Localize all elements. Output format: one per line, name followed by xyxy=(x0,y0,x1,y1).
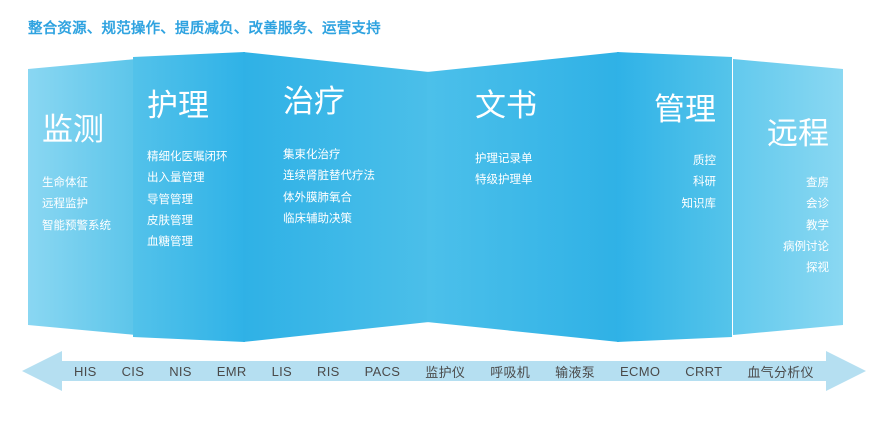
panel-management-items: 质控 科研 知识库 xyxy=(682,153,717,212)
list-item: 导管管理 xyxy=(147,192,228,208)
panel-treatment[interactable]: 治疗 集束化治疗 连续肾脏替代疗法 体外膜肺氧合 临床辅助决策 xyxy=(243,52,429,342)
list-item: 智能预警系统 xyxy=(42,218,111,234)
system-label: NIS xyxy=(169,364,192,379)
panel-documents[interactable]: 文书 护理记录单 特级护理单 xyxy=(427,52,619,342)
page-title: 整合资源、规范操作、提质减负、改善服务、运营支持 xyxy=(28,17,381,38)
system-label: 血气分析仪 xyxy=(747,362,814,381)
panel-management[interactable]: 管理 质控 科研 知识库 xyxy=(617,52,732,342)
system-label: 输液泵 xyxy=(555,362,595,381)
list-item: 体外膜肺氧合 xyxy=(283,190,375,206)
system-label: HIS xyxy=(74,364,97,379)
list-item: 集束化治疗 xyxy=(283,147,375,163)
system-label: RIS xyxy=(317,364,340,379)
panel-remote-title: 远程 xyxy=(767,118,829,149)
list-item: 临床辅助决策 xyxy=(283,211,375,227)
list-item: 病例讨论 xyxy=(783,239,829,255)
system-label: PACS xyxy=(365,364,401,379)
systems-label-row: HIS CIS NIS EMR LIS RIS PACS 监护仪 呼吸机 输液泵… xyxy=(68,349,820,393)
system-label: 呼吸机 xyxy=(490,362,530,381)
panel-monitoring-items: 生命体征 远程监护 智能预警系统 xyxy=(42,175,111,234)
system-label: CRRT xyxy=(685,364,722,379)
panel-nursing-items: 精细化医嘱闭环 出入量管理 导管管理 皮肤管理 血糖管理 xyxy=(147,149,228,251)
system-label: 监护仪 xyxy=(425,362,465,381)
panel-treatment-title: 治疗 xyxy=(283,86,345,117)
list-item: 生命体征 xyxy=(42,175,111,191)
system-label: ECMO xyxy=(620,364,660,379)
panel-treatment-items: 集束化治疗 连续肾脏替代疗法 体外膜肺氧合 临床辅助决策 xyxy=(283,147,375,227)
system-label: LIS xyxy=(272,364,292,379)
list-item: 血糖管理 xyxy=(147,234,228,250)
list-item: 特级护理单 xyxy=(475,172,533,188)
panel-remote-items: 查房 会诊 教学 病例讨论 探视 xyxy=(783,175,829,277)
list-item: 会诊 xyxy=(783,196,829,212)
list-item: 连续肾脏替代疗法 xyxy=(283,168,375,184)
panel-monitoring-title: 监测 xyxy=(42,114,104,145)
panel-nursing-title: 护理 xyxy=(147,90,209,121)
system-label: CIS xyxy=(122,364,145,379)
list-item: 出入量管理 xyxy=(147,170,228,186)
system-label: EMR xyxy=(217,364,247,379)
list-item: 精细化医嘱闭环 xyxy=(147,149,228,165)
list-item: 护理记录单 xyxy=(475,151,533,167)
panel-management-title: 管理 xyxy=(654,94,716,125)
list-item: 教学 xyxy=(783,218,829,234)
list-item: 远程监护 xyxy=(42,196,111,212)
list-item: 皮肤管理 xyxy=(147,213,228,229)
panel-documents-title: 文书 xyxy=(475,90,537,121)
list-item: 查房 xyxy=(783,175,829,191)
panel-remote[interactable]: 远程 查房 会诊 教学 病例讨论 探视 xyxy=(733,52,843,342)
accordion-diagram: 监测 生命体征 远程监护 智能预警系统 护理 精细化医嘱闭环 出入量管理 xyxy=(0,52,888,342)
list-item: 质控 xyxy=(682,153,717,169)
panel-monitoring[interactable]: 监测 生命体征 远程监护 智能预警系统 xyxy=(28,52,136,342)
list-item: 科研 xyxy=(682,174,717,190)
list-item: 知识库 xyxy=(682,196,717,212)
systems-arrow-bar: HIS CIS NIS EMR LIS RIS PACS 监护仪 呼吸机 输液泵… xyxy=(22,349,866,393)
list-item: 探视 xyxy=(783,260,829,276)
panel-nursing[interactable]: 护理 精细化医嘱闭环 出入量管理 导管管理 皮肤管理 血糖管理 xyxy=(133,52,245,342)
panel-documents-items: 护理记录单 特级护理单 xyxy=(475,151,533,189)
